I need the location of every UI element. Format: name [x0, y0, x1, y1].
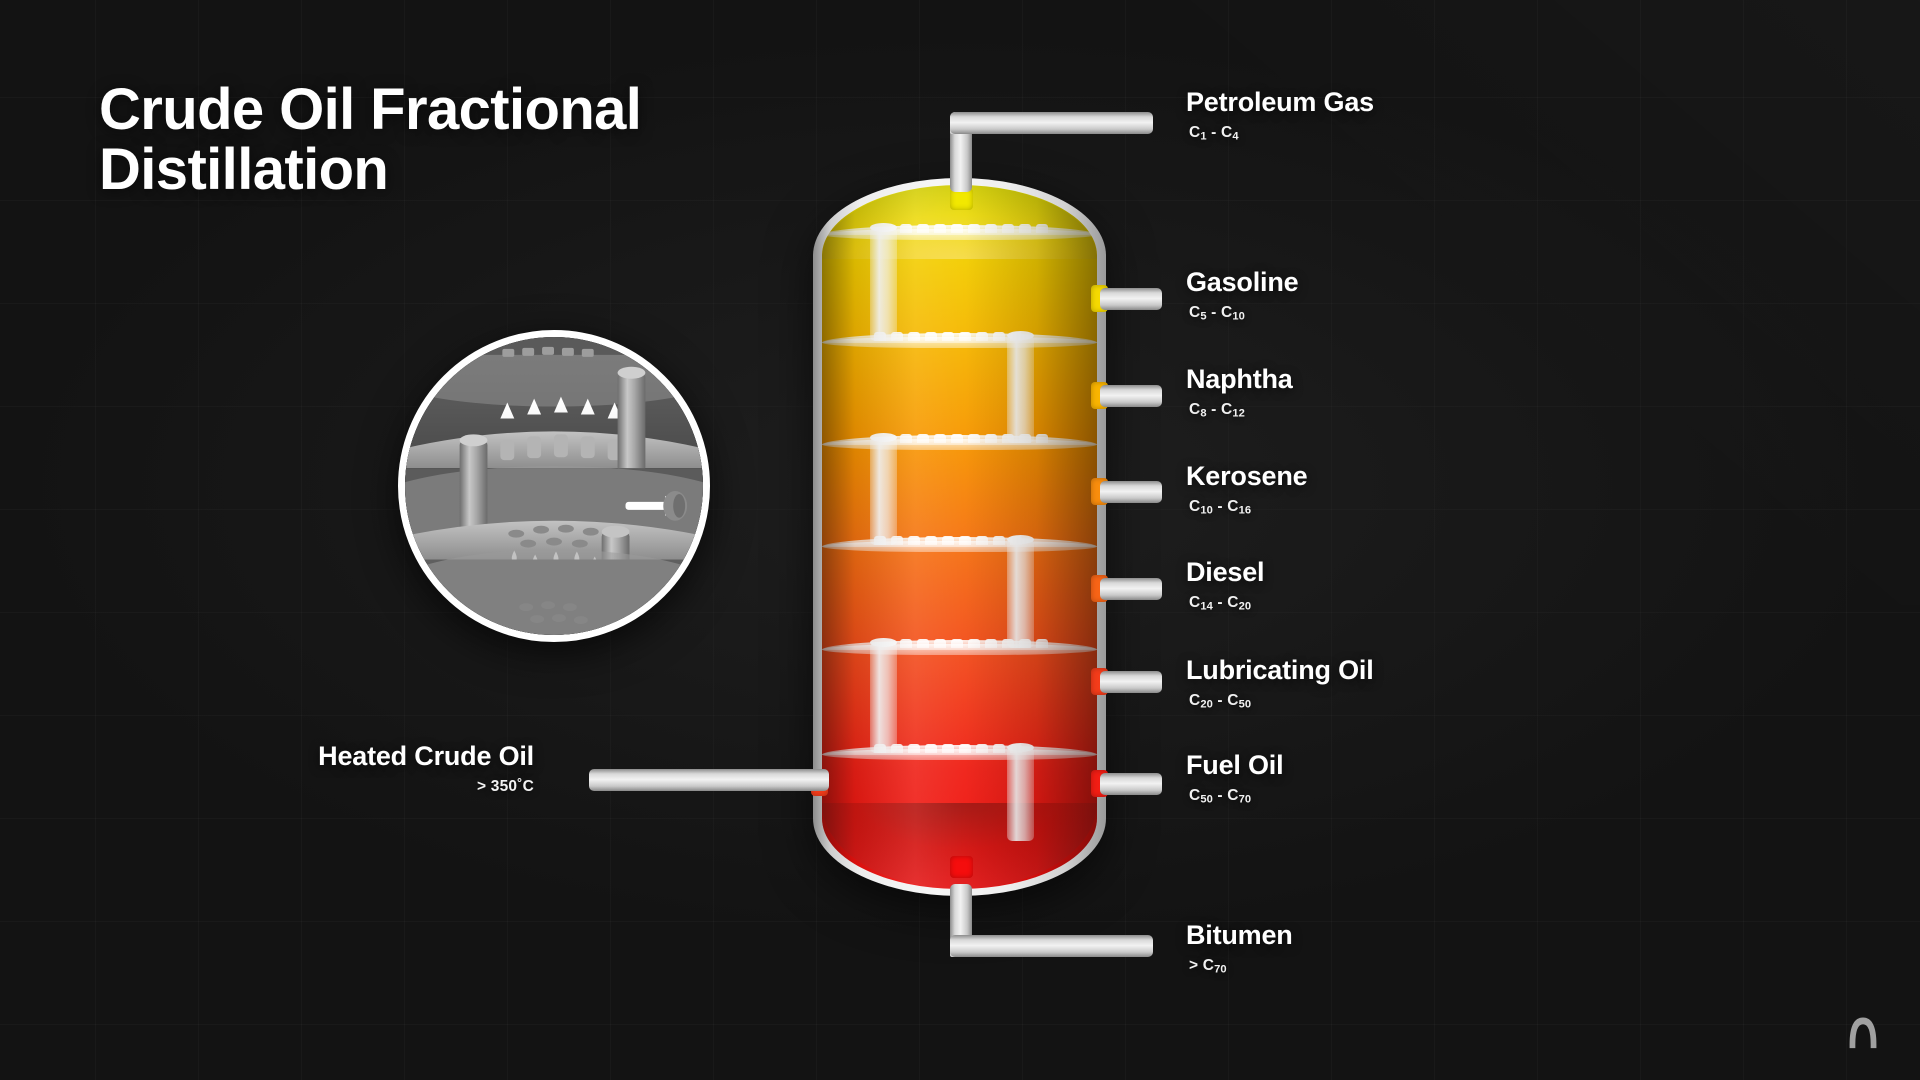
distillation-tray [822, 435, 1097, 452]
column-interior [822, 185, 1097, 889]
distillation-tray [822, 225, 1097, 242]
overhead-gas-pipe [950, 112, 1153, 134]
bubble-cap-row [874, 332, 1022, 341]
fraction-name: Bitumen [1186, 921, 1293, 951]
fraction-name: Fuel Oil [1186, 751, 1283, 781]
downcomer-pipe [870, 437, 897, 545]
feed-label-condition: > 350˚C [0, 778, 534, 796]
page-title: Crude Oil Fractional Distillation [99, 80, 779, 201]
crude-feed-pipe [589, 769, 829, 791]
distillation-column [813, 178, 1106, 896]
feed-label: Heated Crude Oil > 350˚C [0, 742, 534, 796]
fraction-name: Petroleum Gas [1186, 88, 1374, 118]
downcomer-pipe [870, 227, 897, 341]
fraction-name: Diesel [1186, 558, 1264, 588]
bubble-cap-row [900, 224, 1048, 233]
bubble-cap-row [900, 639, 1048, 648]
arch-logo-icon [1840, 1006, 1886, 1052]
feed-label-title: Heated Crude Oil [0, 742, 534, 772]
bottoms-bitumen-pipe [950, 935, 1153, 957]
side-outlet-pipe [1100, 671, 1162, 693]
fraction-name: Lubricating Oil [1186, 656, 1374, 686]
bubble-cap-row [900, 434, 1048, 443]
side-outlet-pipe [1100, 288, 1162, 310]
downcomer-pipe [870, 642, 897, 753]
fraction-carbon-range: C10 - C16 [1189, 498, 1307, 516]
fraction-label: Petroleum GasC1 - C4 [1186, 88, 1374, 142]
downcomer-pipe [1007, 335, 1034, 443]
side-outlet-pipe [1100, 481, 1162, 503]
fraction-label: NaphthaC8 - C12 [1186, 365, 1293, 419]
fraction-carbon-range: C20 - C50 [1189, 692, 1374, 710]
fraction-label: Fuel OilC50 - C70 [1186, 751, 1283, 805]
fraction-label: Bitumen> C70 [1186, 921, 1293, 975]
downcomer-right [618, 367, 646, 472]
side-outlet-pipe [1100, 578, 1162, 600]
tray-detail-illustration [405, 337, 703, 635]
fraction-label: Lubricating OilC20 - C50 [1186, 656, 1374, 710]
distillation-tray [822, 537, 1097, 554]
side-outlet-pipe [1100, 773, 1162, 795]
distillation-tray [822, 745, 1097, 762]
bubble-cap-row [874, 744, 1022, 753]
fraction-label: DieselC14 - C20 [1186, 558, 1264, 612]
fraction-carbon-range: C14 - C20 [1189, 594, 1264, 612]
tray-detail-magnifier [398, 330, 710, 642]
fraction-carbon-range: C1 - C4 [1189, 124, 1374, 142]
fraction-carbon-range: > C70 [1189, 957, 1293, 975]
bottoms-nozzle [950, 856, 973, 878]
distillation-tray [822, 640, 1097, 657]
distillation-tray [822, 333, 1097, 350]
downcomer-pipe [1007, 539, 1034, 648]
fraction-carbon-range: C50 - C70 [1189, 787, 1283, 805]
fraction-label: KeroseneC10 - C16 [1186, 462, 1307, 516]
fraction-name: Gasoline [1186, 268, 1298, 298]
fraction-carbon-range: C8 - C12 [1189, 401, 1293, 419]
side-outlet-pipe [1100, 385, 1162, 407]
fraction-carbon-range: C5 - C10 [1189, 304, 1298, 322]
fraction-name: Naphtha [1186, 365, 1293, 395]
fraction-label: GasolineC5 - C10 [1186, 268, 1298, 322]
fraction-name: Kerosene [1186, 462, 1307, 492]
bubble-cap-row [874, 536, 1022, 545]
downcomer-pipe [1007, 747, 1034, 841]
